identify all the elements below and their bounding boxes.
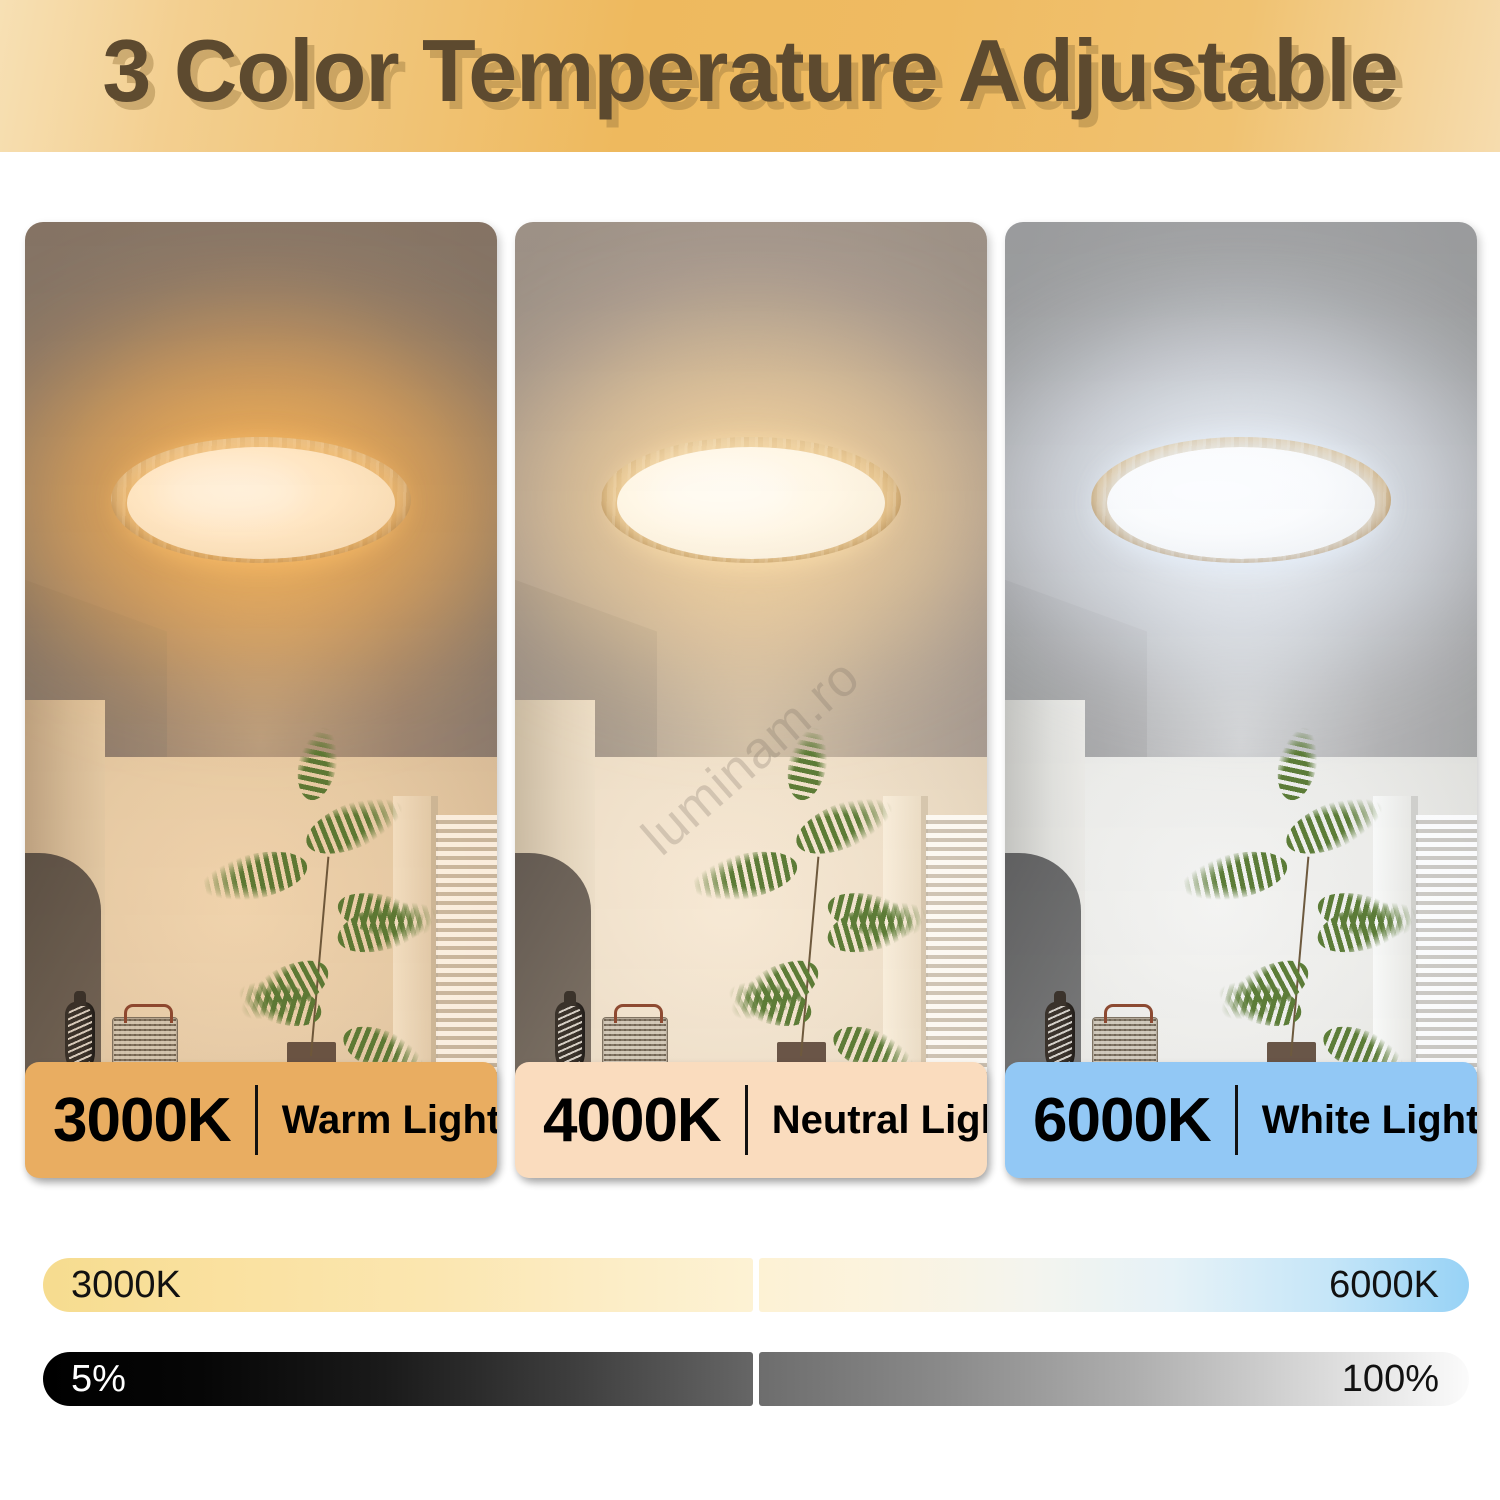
scene-panel-6000k[interactable] <box>1005 222 1477 1178</box>
badge-divider <box>255 1085 258 1155</box>
fern-frond <box>687 843 802 909</box>
color-temperature-badge-4000k[interactable]: 4000K Neutral Light <box>515 1062 987 1178</box>
badge-light-name: Warm Light <box>282 1098 497 1143</box>
room-scene <box>25 222 497 1178</box>
light-diffuser <box>127 447 395 559</box>
scene-panel-4000k[interactable]: luminam.ro <box>515 222 987 1178</box>
light-diffuser <box>617 447 885 559</box>
scene-panel-3000k[interactable] <box>25 222 497 1178</box>
badge-light-name: White Light <box>1262 1098 1477 1143</box>
potted-fern-plant <box>214 767 497 1111</box>
badge-light-name: Neutral Light <box>772 1098 987 1143</box>
light-diffuser <box>1107 447 1375 559</box>
color-temperature-badge-6000k[interactable]: 6000K White Light <box>1005 1062 1477 1178</box>
dimming-max-label: 100% <box>1342 1358 1469 1401</box>
color-temperature-bar-cool-half[interactable]: 6000K <box>759 1258 1469 1312</box>
badge-kelvin-value: 6000K <box>1005 1085 1211 1156</box>
ceiling-light-fixture <box>595 423 907 573</box>
fern-frond <box>1177 843 1292 909</box>
product-scene-gallery: luminam.ro <box>25 222 1477 1178</box>
ceiling-light-fixture <box>105 423 417 573</box>
badge-kelvin-value: 3000K <box>25 1085 231 1156</box>
dimming-min-label: 5% <box>43 1358 126 1401</box>
badge-divider <box>1235 1085 1238 1155</box>
badge-kelvin-value: 4000K <box>515 1085 721 1156</box>
potted-fern-plant <box>704 767 987 1111</box>
dimming-bar-high-half[interactable]: 100% <box>759 1352 1469 1406</box>
ceiling-light-fixture <box>1085 423 1397 573</box>
fern-frond <box>197 843 312 909</box>
header-banner: 3 Color Temperature Adjustable <box>0 0 1500 152</box>
color-temperature-badge-3000k[interactable]: 3000K Warm Light <box>25 1062 497 1178</box>
badge-divider <box>745 1085 748 1155</box>
color-temperature-bar-warm-half[interactable]: 3000K <box>43 1258 753 1312</box>
page-title: 3 Color Temperature Adjustable <box>0 20 1500 122</box>
dimming-bar-low-half[interactable]: 5% <box>43 1352 753 1406</box>
potted-fern-plant <box>1194 767 1477 1111</box>
room-scene <box>1005 222 1477 1178</box>
room-scene: luminam.ro <box>515 222 987 1178</box>
color-temp-max-label: 6000K <box>1329 1264 1469 1307</box>
color-temp-min-label: 3000K <box>43 1264 181 1307</box>
